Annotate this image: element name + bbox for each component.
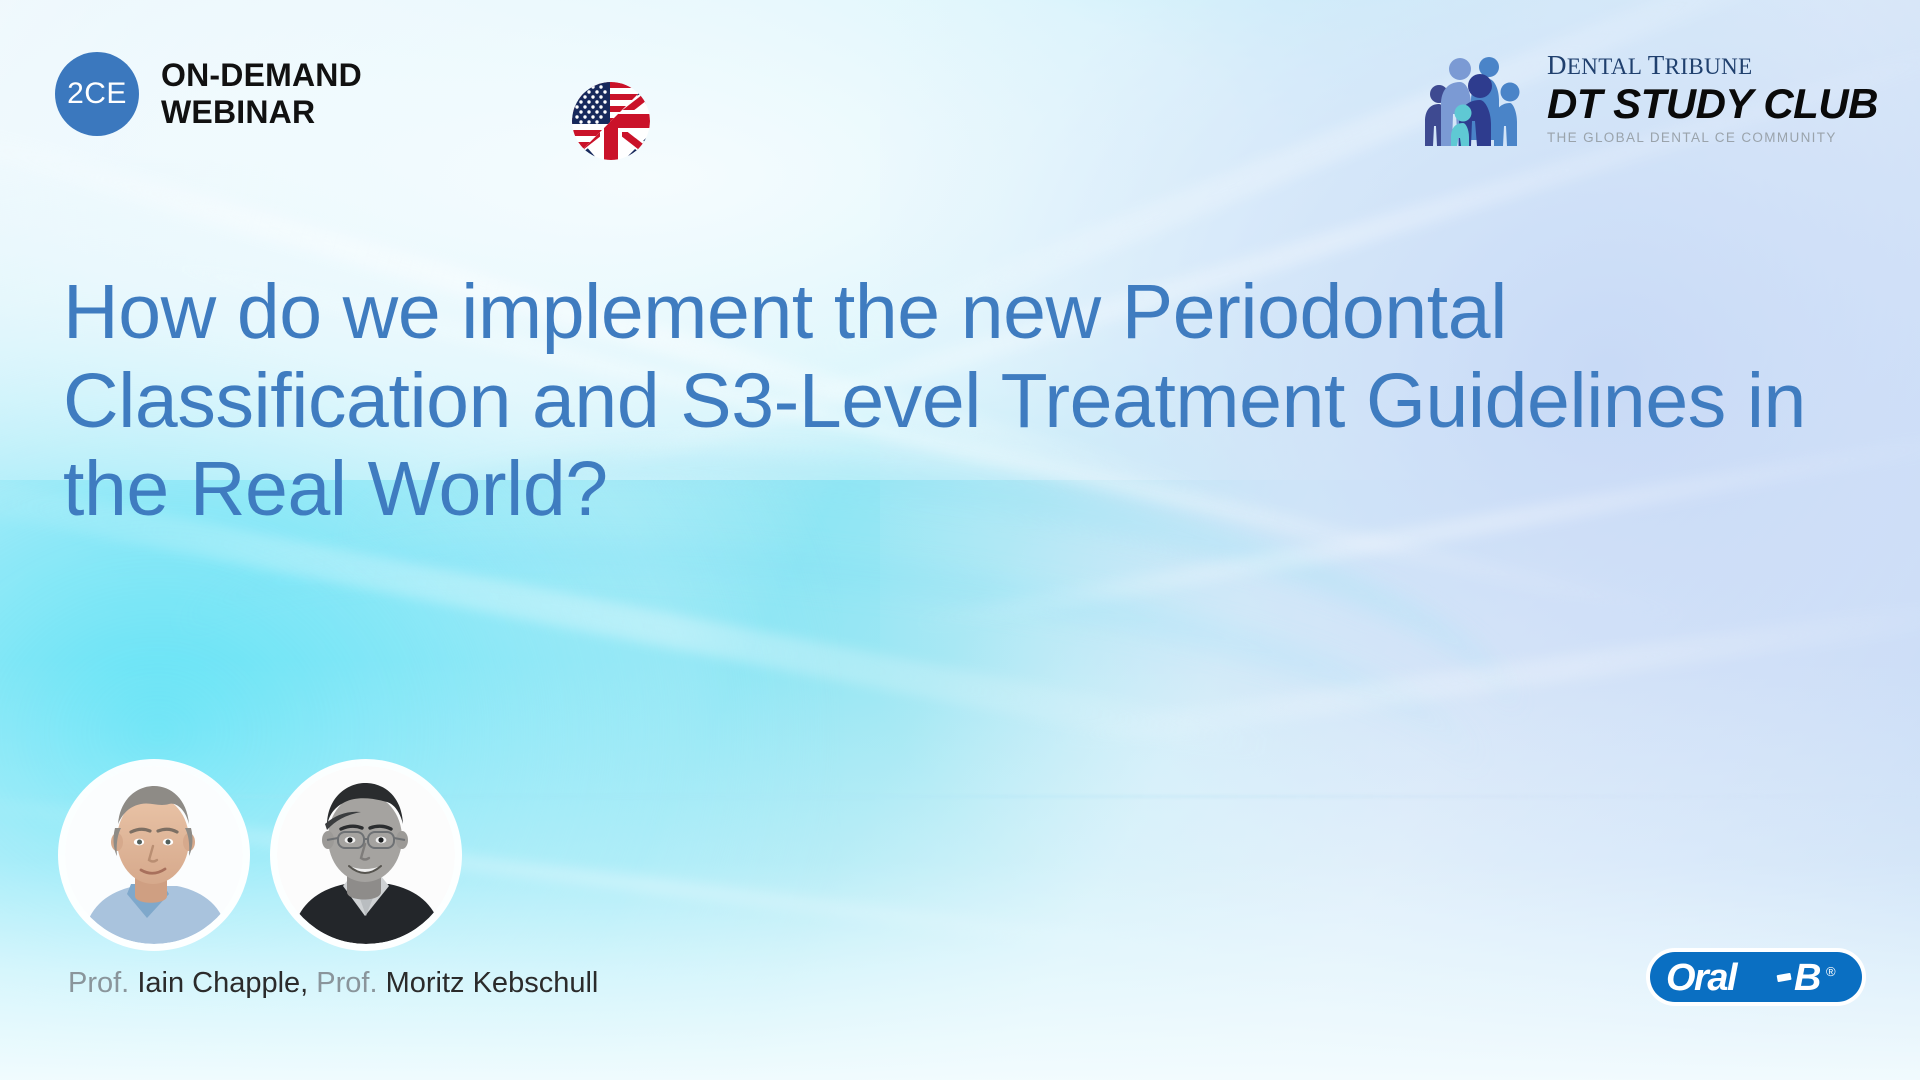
avatar-kebschull-portrait (277, 766, 455, 944)
dt-t: T (1648, 50, 1665, 80)
dt-d: D (1547, 50, 1567, 80)
oral-b-wordmark: Oral (1666, 957, 1739, 999)
page-title: How do we implement the new Periodontal … (63, 268, 1873, 534)
dt-study-club-logo: DENTAL TRIBUNE DT STUDY CLUB THE GLOBAL … (1419, 50, 1878, 146)
webinar-badge-group: 2CE ON-DEMAND WEBINAR (55, 52, 362, 136)
webinar-type-label: ON-DEMAND WEBINAR (161, 57, 362, 131)
dt-study-club-tagline: THE GLOBAL DENTAL CE COMMUNITY (1547, 130, 1837, 145)
speaker-2-prefix: Prof. (316, 967, 377, 999)
speaker-byline: Prof. Iain Chapple, Prof. Moritz Kebschu… (68, 967, 598, 1000)
oral-b-logo-icon: Oral B ® (1644, 946, 1868, 1008)
dt-logo-text: DENTAL TRIBUNE DT STUDY CLUB THE GLOBAL … (1547, 52, 1878, 145)
registered-mark: ® (1826, 964, 1836, 979)
dental-tribune-wordmark: DENTAL TRIBUNE (1547, 52, 1753, 79)
speaker-1-name: Iain Chapple, (137, 967, 308, 999)
dt-ribune: RIBUNE (1665, 54, 1753, 79)
webinar-type-line-2: WEBINAR (161, 94, 362, 131)
ce-credit-badge-label: 2CE (67, 77, 127, 111)
dt-study-club-wordmark: DT STUDY CLUB (1547, 83, 1878, 125)
oral-b-b-letter: B (1794, 957, 1821, 999)
ce-credit-badge-icon: 2CE (55, 52, 139, 136)
speaker-avatar-chapple (65, 766, 243, 944)
us-uk-flag-icon (572, 82, 650, 160)
webinar-type-line-1: ON-DEMAND (161, 57, 362, 94)
dt-people-group-icon (1419, 50, 1529, 146)
speaker-avatar-kebschull (277, 766, 455, 944)
webinar-slide: 2CE ON-DEMAND WEBINAR (0, 0, 1920, 1080)
dt-ental: ENTAL (1567, 54, 1642, 79)
speaker-avatar-group (65, 766, 455, 944)
avatar-chapple-portrait (65, 766, 243, 944)
oral-b-logo-svg: Oral B ® (1644, 946, 1868, 1008)
us-uk-flag-svg (572, 82, 650, 160)
speaker-1-prefix: Prof. (68, 967, 129, 999)
speaker-2-name: Moritz Kebschull (386, 967, 599, 999)
